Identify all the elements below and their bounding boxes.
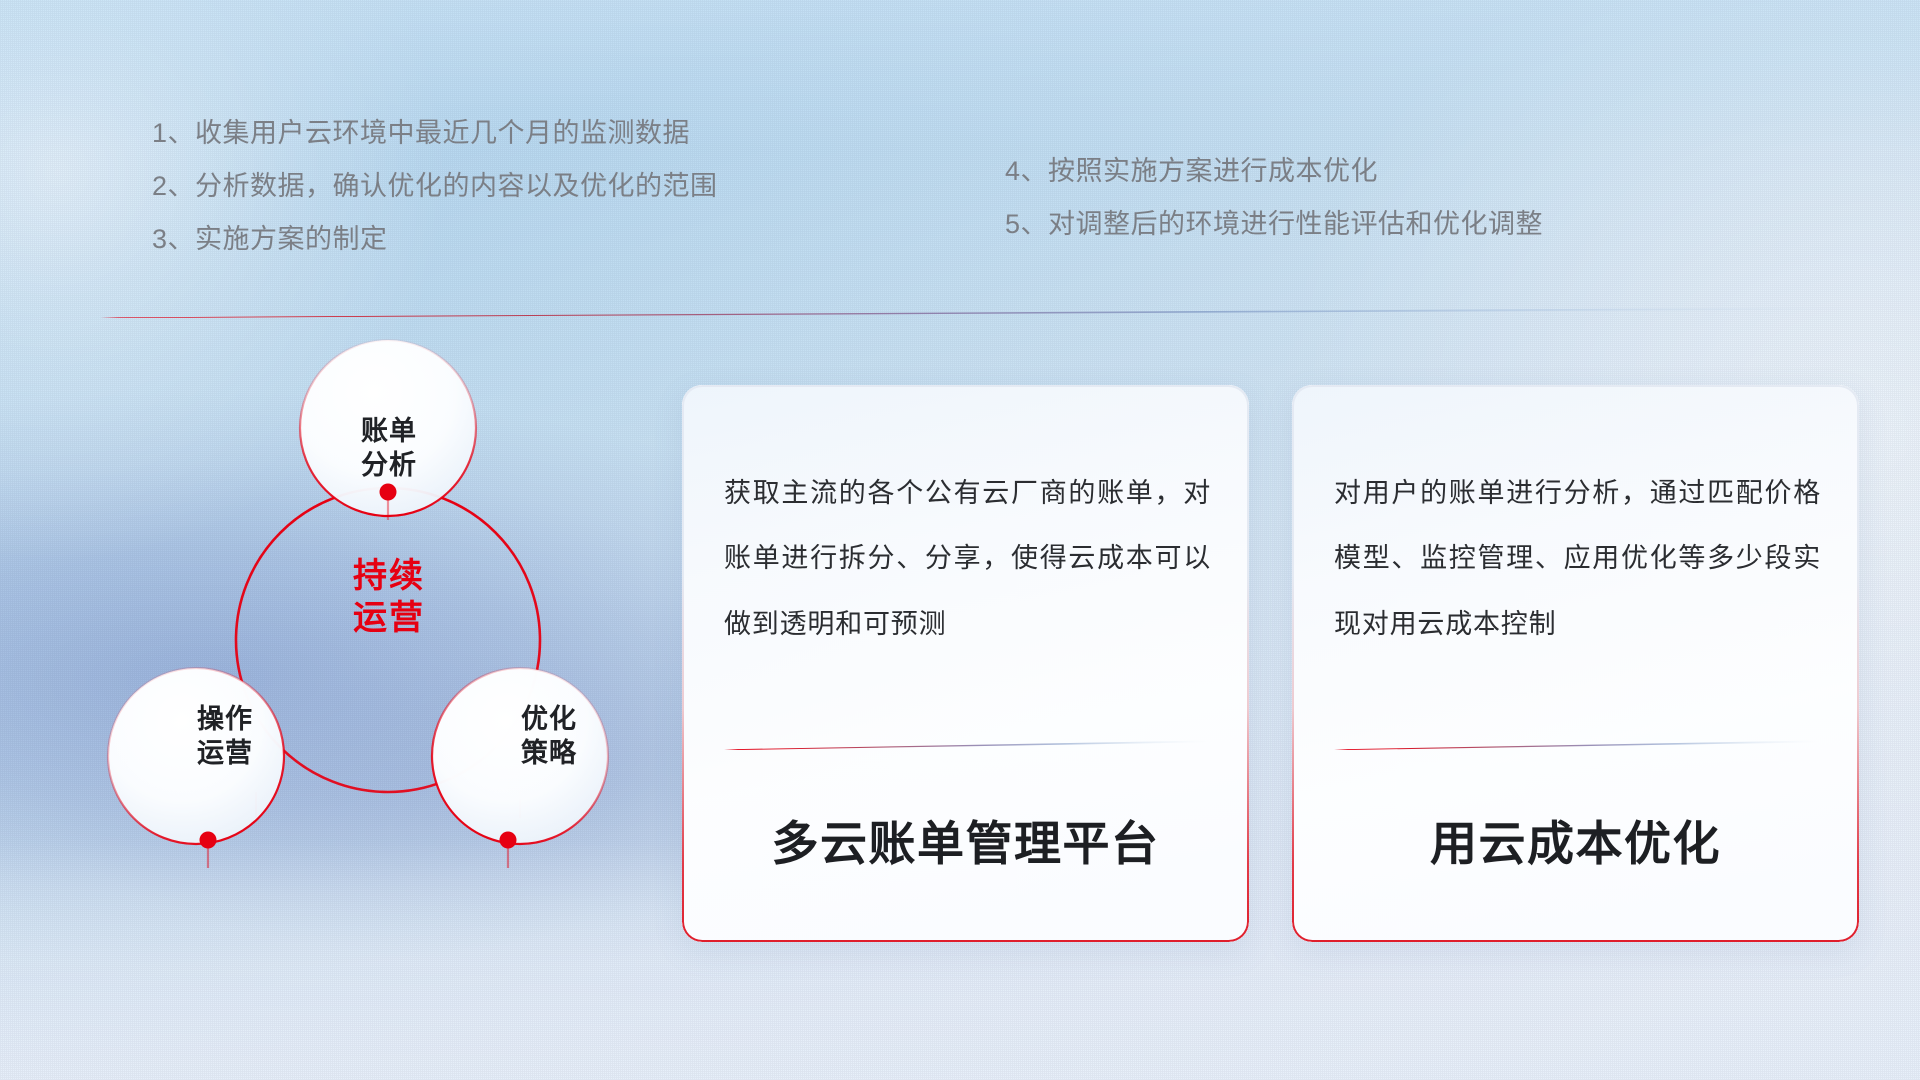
node-label-ops-operation: 操作 运营: [142, 702, 308, 770]
card-accent-rule: [1334, 740, 1820, 750]
junction-dot-top: [380, 484, 397, 501]
step-item: 3、实施方案的制定: [152, 226, 718, 253]
junction-dot-left: [200, 832, 217, 849]
step-item: 2、分析数据，确认优化的内容以及优化的范围: [152, 173, 718, 200]
diagram-center-label: 持续 运营: [303, 555, 475, 639]
card-title: 用云成本优化: [1292, 805, 1859, 874]
node-label-bill-analysis: 账单 分析: [306, 414, 472, 482]
card-multi-cloud-bill-platform[interactable]: 获取主流的各个公有云厂商的账单，对账单进行拆分、分享，使得云成本可以做到透明和可…: [682, 385, 1249, 942]
continuous-operation-diagram: 账单 分析 操作 运营 优化 策略 持续 运营: [88, 340, 688, 940]
steps-list-right: 4、按照实施方案进行成本优化 5、对调整后的环境进行性能评估和优化调整: [1005, 158, 1543, 238]
slide-canvas: 1、收集用户云环境中最近几个月的监测数据 2、分析数据，确认优化的内容以及优化的…: [0, 0, 1920, 1080]
step-item: 4、按照实施方案进行成本优化: [1005, 158, 1543, 185]
card-description: 获取主流的各个公有云厂商的账单，对账单进行拆分、分享，使得云成本可以做到透明和可…: [724, 461, 1211, 657]
card-cloud-cost-optimization[interactable]: 对用户的账单进行分析，通过匹配价格模型、监控管理、应用优化等多少段实现对用云成本…: [1292, 385, 1859, 942]
junction-dot-right: [500, 832, 517, 849]
step-item: 1、收集用户云环境中最近几个月的监测数据: [152, 120, 718, 147]
top-divider-bar: [100, 307, 1870, 318]
card-accent-rule: [724, 740, 1210, 750]
node-label-optimization-strategy: 优化 策略: [466, 702, 632, 770]
steps-list-left: 1、收集用户云环境中最近几个月的监测数据 2、分析数据，确认优化的内容以及优化的…: [152, 120, 718, 253]
step-item: 5、对调整后的环境进行性能评估和优化调整: [1005, 211, 1543, 238]
card-description: 对用户的账单进行分析，通过匹配价格模型、监控管理、应用优化等多少段实现对用云成本…: [1334, 461, 1821, 657]
card-title: 多云账单管理平台: [682, 805, 1249, 874]
